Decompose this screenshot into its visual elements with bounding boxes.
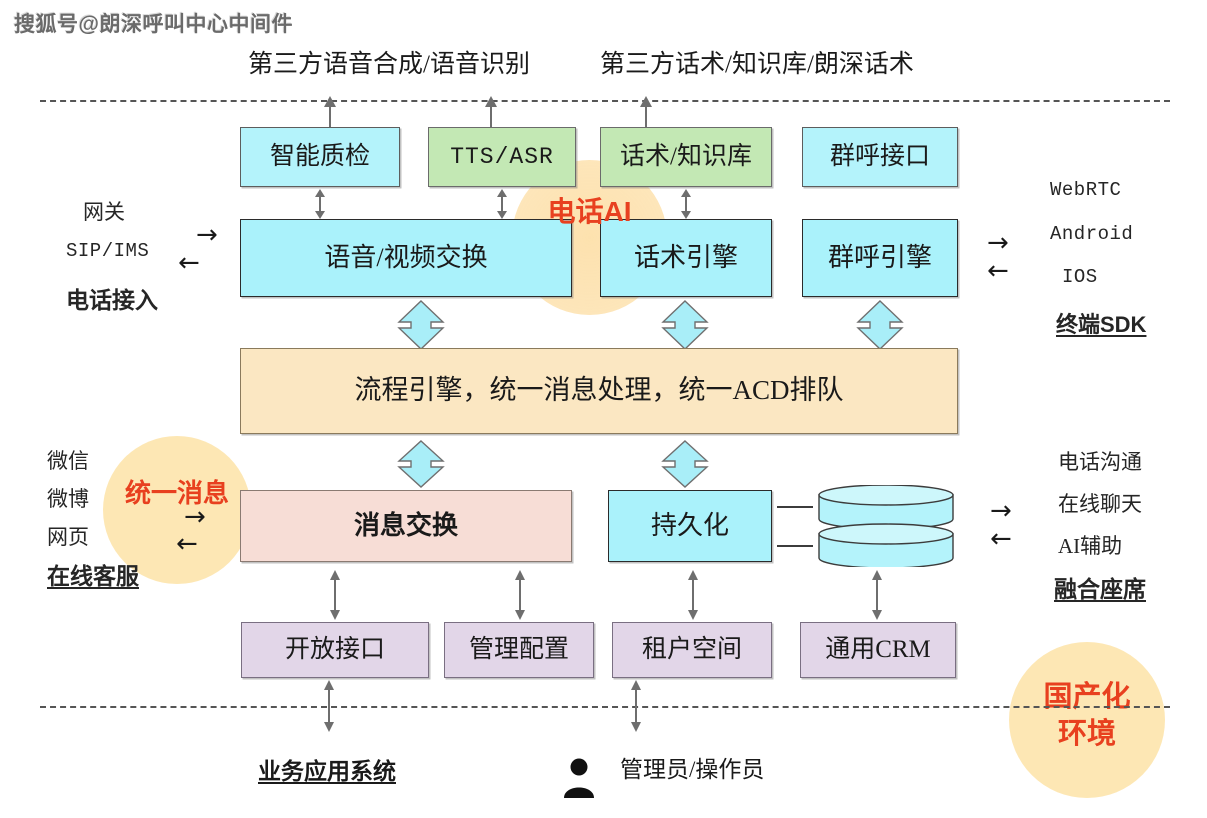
right-label-android: Android — [1050, 223, 1133, 245]
box-general-crm[interactable]: 通用CRM — [800, 622, 956, 678]
left-arrow-out-telephony: ← — [178, 252, 200, 275]
box-label: 租户空间 — [642, 636, 742, 665]
arrow-quality-to-switch — [311, 189, 329, 219]
box-label: 群呼接口 — [830, 143, 930, 172]
left-arrow-in-omnichannel: → — [184, 506, 206, 529]
right-label-webrtc: WebRTC — [1050, 179, 1121, 201]
box-label: 通用CRM — [825, 636, 931, 665]
box-label: 语音/视频交换 — [324, 243, 487, 273]
left-arrow-out-omnichannel: ← — [176, 533, 198, 556]
boundary-line-bottom — [40, 706, 1170, 708]
right-arrow-in-agent: ← — [990, 528, 1012, 551]
box-open-interface[interactable]: 开放接口 — [241, 622, 429, 678]
box-label: 开放接口 — [285, 636, 385, 665]
bottom-label-business-systems: 业务应用系统 — [258, 752, 396, 786]
blockarrow-scriptengine-to-core — [660, 300, 710, 350]
blockarrow-core-to-persistence — [660, 440, 710, 488]
db-cylinder-lower — [819, 524, 953, 567]
highlight-label-telephone-ai: 电话AI — [512, 190, 667, 230]
box-group-call-engine[interactable]: 群呼引擎 — [802, 219, 958, 297]
highlight-label-localization-line2: 环境 — [1009, 710, 1165, 752]
box-label: 话术引擎 — [634, 243, 738, 273]
box-group-call-interface[interactable]: 群呼接口 — [802, 127, 958, 187]
box-label: 流程引擎，统一消息处理，统一ACD排队 — [354, 375, 843, 406]
arrow-persist-to-tenant — [684, 570, 702, 620]
arrow-storage-to-crm — [868, 570, 886, 620]
right-arrow-out-agent: → — [990, 500, 1012, 523]
box-intelligent-quality-inspection[interactable]: 智能质检 — [240, 127, 400, 187]
box-label: 群呼引擎 — [828, 243, 932, 273]
box-core-process-engine[interactable]: 流程引擎，统一消息处理，统一ACD排队 — [240, 348, 958, 434]
left-label-wechat: 微信 — [47, 445, 89, 475]
left-label-webpage: 网页 — [47, 521, 89, 551]
box-persistence[interactable]: 持久化 — [608, 490, 772, 562]
box-script-engine[interactable]: 话术引擎 — [600, 219, 772, 297]
box-label: 话术/知识库 — [620, 143, 752, 172]
box-label: 消息交换 — [354, 511, 458, 541]
left-label-sip-ims: SIP/IMS — [66, 240, 149, 262]
highlight-label-localization-line1: 国产化 — [1009, 673, 1165, 715]
blockarrow-switch-to-core — [396, 300, 446, 350]
right-label-ios: IOS — [1062, 266, 1098, 288]
highlight-label-telephone-ai-wrap: 电话AI — [512, 190, 667, 224]
database-cylinders — [775, 485, 965, 567]
watermark-text: 搜狐号@朗深呼叫中心中间件 — [14, 8, 293, 38]
person-icon — [562, 756, 596, 800]
right-label-phone-communication: 电话沟通 — [1058, 446, 1142, 476]
left-arrow-in-telephony: → — [196, 224, 218, 247]
external-label-speech: 第三方语音合成/语音识别 — [248, 44, 530, 80]
left-label-gateway: 网关 — [83, 196, 125, 226]
left-label-weibo: 微博 — [47, 483, 89, 513]
box-message-exchange[interactable]: 消息交换 — [240, 490, 572, 562]
right-label-unified-agent: 融合座席 — [1054, 570, 1146, 604]
right-label-online-chat: 在线聊天 — [1058, 488, 1142, 518]
box-tts-asr[interactable]: TTS/ASR — [428, 127, 576, 187]
box-script-knowledge-base[interactable]: 话术/知识库 — [600, 127, 772, 187]
right-label-terminal-sdk: 终端SDK — [1056, 307, 1146, 339]
box-label: 持久化 — [651, 511, 729, 541]
blockarrow-core-to-message — [396, 440, 446, 488]
bottom-label-operator: 管理员/操作员 — [620, 750, 764, 784]
external-label-script: 第三方话术/知识库/朗深话术 — [600, 44, 914, 80]
arrow-msg-to-openapi — [326, 570, 344, 620]
arrow-config-to-operator — [627, 680, 645, 732]
left-label-telephone-access: 电话接入 — [66, 281, 158, 315]
blockarrow-groupcall-to-core — [855, 300, 905, 350]
arrow-ttsasr-to-switch — [493, 189, 511, 219]
box-label: TTS/ASR — [450, 144, 554, 170]
box-voice-video-switch[interactable]: 语音/视频交换 — [240, 219, 572, 297]
right-arrow-in-sdk: ← — [987, 260, 1009, 283]
box-tenant-space[interactable]: 租户空间 — [612, 622, 772, 678]
db-cylinder-upper — [819, 485, 953, 529]
right-arrow-out-sdk: → — [987, 232, 1009, 255]
arrow-msg-to-config — [511, 570, 529, 620]
box-label: 管理配置 — [469, 636, 569, 665]
arrow-openapi-to-business — [320, 680, 338, 732]
right-label-ai-assist: AI辅助 — [1058, 530, 1122, 560]
highlight-label-unified-message: 统一消息 — [103, 473, 251, 510]
box-management-config[interactable]: 管理配置 — [444, 622, 594, 678]
boundary-line-top — [40, 100, 1170, 102]
arrow-script-to-engine — [677, 189, 695, 219]
left-label-online-service: 在线客服 — [47, 557, 139, 591]
box-label: 智能质检 — [270, 143, 370, 172]
